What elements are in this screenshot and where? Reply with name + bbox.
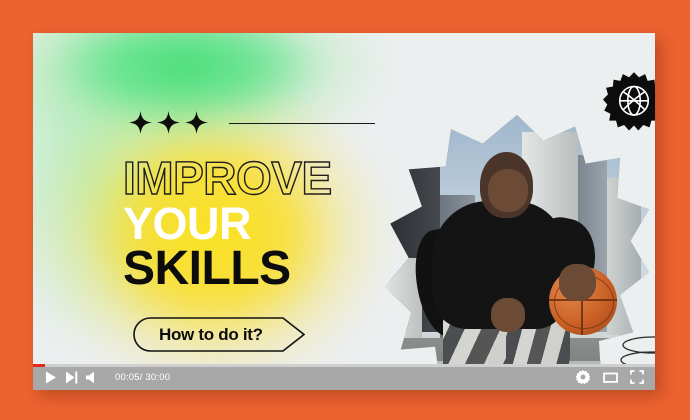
volume-icon: [85, 371, 98, 384]
headline-line-2: YOUR: [123, 205, 332, 244]
sparkle-row-top: [129, 111, 208, 134]
cta-label: How to do it?: [159, 325, 263, 345]
skip-next-icon: [65, 371, 78, 384]
rectangle-icon: [603, 371, 618, 384]
sparkle-icon: [129, 111, 152, 134]
play-icon: [45, 371, 57, 384]
how-to-do-it-button[interactable]: How to do it?: [133, 317, 305, 352]
gear-icon: [576, 370, 590, 384]
volume-button[interactable]: [81, 368, 101, 386]
settings-button[interactable]: [573, 368, 593, 386]
photo-player-hand: [491, 298, 525, 332]
photo-player-hand: [559, 264, 596, 301]
basketball-player-photo: [385, 115, 649, 390]
headline-block: IMPROVE YOUR SKILLS: [123, 159, 332, 290]
headline-line-3: SKILLS: [123, 248, 332, 289]
video-control-bar: 00:05/ 30:00: [33, 364, 655, 390]
next-button[interactable]: [61, 368, 81, 386]
progress-played: [33, 364, 45, 367]
sparkle-icon: [157, 111, 180, 134]
sparkle-icon: [185, 111, 208, 134]
control-bar-right-group: [573, 368, 647, 386]
brand-badge[interactable]: [603, 71, 655, 133]
horizontal-rule-decoration: [229, 123, 375, 124]
video-thumbnail-card: IMPROVE YOUR SKILLS How to do it?: [33, 33, 655, 390]
play-button[interactable]: [41, 368, 61, 386]
theater-mode-button[interactable]: [600, 368, 620, 386]
fullscreen-icon: [630, 370, 644, 384]
progress-track[interactable]: [33, 364, 655, 367]
time-display: 00:05/ 30:00: [115, 372, 170, 383]
photo-star-frame: [385, 115, 649, 390]
photo-player-face: [488, 169, 528, 212]
fullscreen-button[interactable]: [627, 368, 647, 386]
headline-line-1: IMPROVE: [123, 159, 332, 199]
